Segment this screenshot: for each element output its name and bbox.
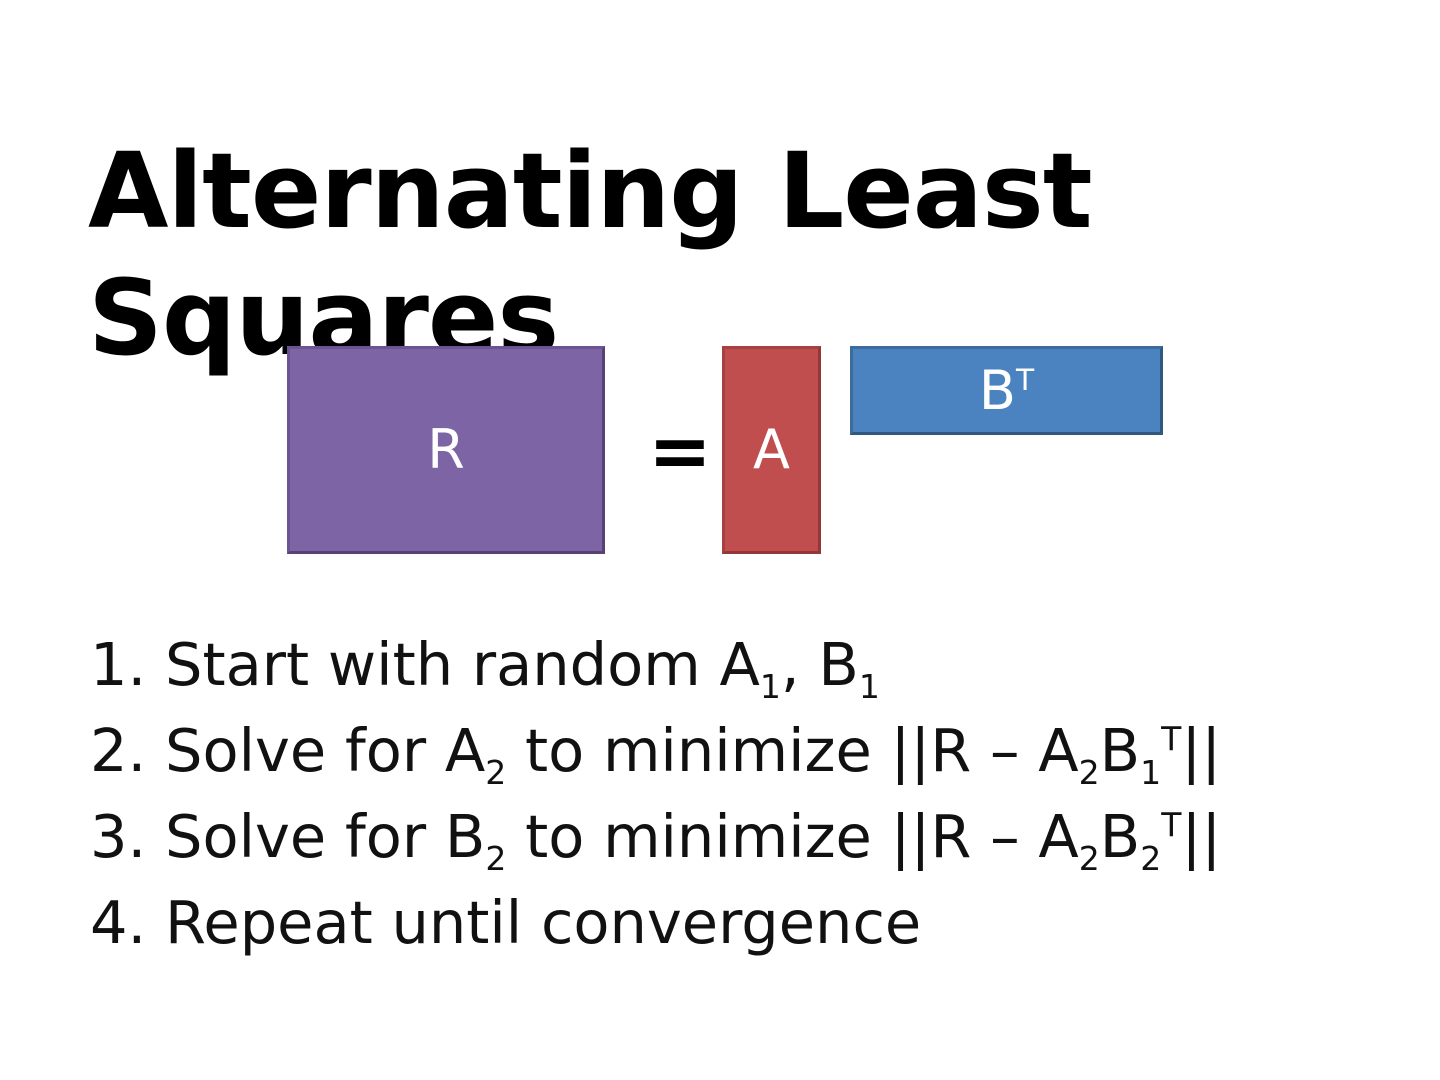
matrix-box-b-transpose[interactable]: BT [850, 346, 1163, 435]
matrix-box-r[interactable]: R [287, 346, 605, 554]
equals-sign: = [645, 405, 715, 497]
slide-canvas: Alternating Least Squares R = A BT 1. St… [0, 0, 1440, 1080]
matrix-box-r-label: R [427, 423, 465, 477]
list-item: 4. Repeat until convergence [90, 880, 1380, 966]
page-title: Alternating Least Squares [88, 128, 1208, 382]
transpose-superscript: T [1016, 363, 1034, 398]
matrix-box-a-label: A [753, 423, 790, 477]
matrix-box-a[interactable]: A [722, 346, 821, 554]
matrix-box-b-transpose-label: BT [979, 364, 1034, 418]
list-item: 3. Solve for B2 to minimize ||R – A2B2T|… [90, 794, 1380, 880]
steps-list: 1. Start with random A1, B1 2. Solve for… [90, 622, 1380, 966]
list-item: 1. Start with random A1, B1 [90, 622, 1380, 708]
list-item: 2. Solve for A2 to minimize ||R – A2B1T|… [90, 708, 1380, 794]
matrix-box-b-transpose-label-base: B [979, 359, 1016, 422]
